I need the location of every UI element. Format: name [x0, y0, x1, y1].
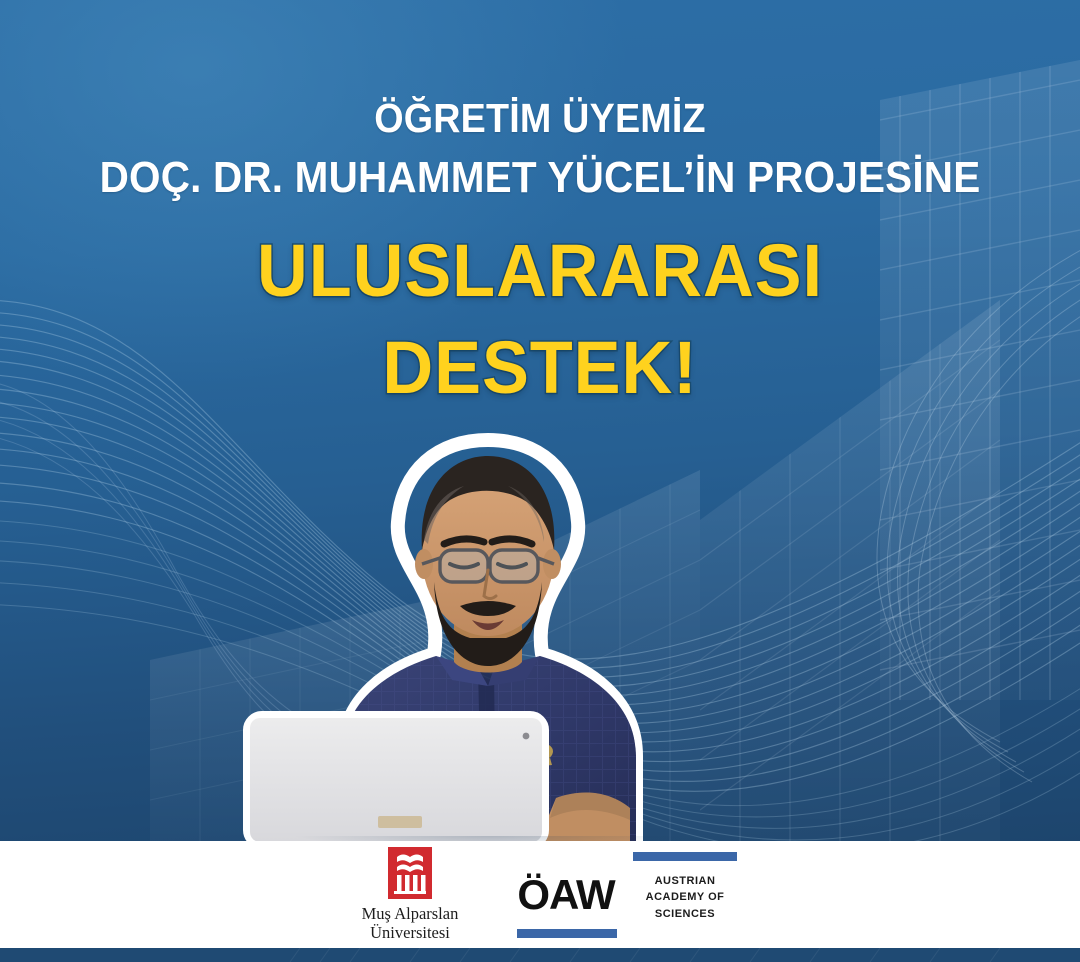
bottom-accent-strip: [0, 948, 1080, 962]
mau-name-line-2: Üniversitesi: [370, 923, 450, 942]
oeaw-bar-top: [633, 852, 737, 861]
mus-alparslan-wordmark: Muş Alparslan Üniversitesi: [362, 904, 459, 942]
oeaw-subtitle-line-2: ACADEMY OF: [646, 891, 725, 903]
headline-line-1: ÖĞRETİM ÜYEMİZ: [67, 96, 1013, 140]
headline-block: ÖĞRETİM ÜYEMİZ DOÇ. DR. MUHAMMET YÜCEL’İ…: [0, 96, 1080, 410]
oeaw-subtitle: AUSTRIAN ACADEMY OF SCIENCES: [646, 873, 725, 923]
logo-mus-alparslan-universitesi: Muş Alparslan Üniversitesi: [335, 847, 485, 942]
oeaw-subtitle-block: AUSTRIAN ACADEMY OF SCIENCES: [625, 852, 745, 938]
oeaw-wordmark-block: ÖAW: [507, 852, 625, 938]
headline-accent-line-2: DESTEK!: [52, 327, 1029, 410]
headline-line-2: DOÇ. DR. MUHAMMET YÜCEL’İN PROJESİNE: [67, 154, 1013, 202]
mus-alparslan-crest-icon: [388, 847, 432, 899]
mau-name-line-1: Muş Alparslan: [362, 904, 459, 923]
oeaw-subtitle-line-3: SCIENCES: [655, 908, 715, 920]
oeaw-wordmark: ÖAW: [517, 874, 614, 916]
poster-background: ÖĞRETİM ÜYEMİZ DOÇ. DR. MUHAMMET YÜCEL’İ…: [0, 0, 1080, 842]
poster: ÖĞRETİM ÜYEMİZ DOÇ. DR. MUHAMMET YÜCEL’İ…: [0, 0, 1080, 962]
logo-oeaw: ÖAW AUSTRIAN ACADEMY OF SCIENCES: [507, 852, 745, 938]
oeaw-bar-bottom: [517, 929, 617, 938]
headline-accent-line-1: ULUSLARARASI: [52, 230, 1029, 313]
oeaw-subtitle-line-1: AUSTRIAN: [655, 875, 716, 887]
person-photo-cutout: [238, 418, 738, 842]
footer-logo-band: Muş Alparslan Üniversitesi ÖAW AUSTRIAN …: [0, 841, 1080, 948]
